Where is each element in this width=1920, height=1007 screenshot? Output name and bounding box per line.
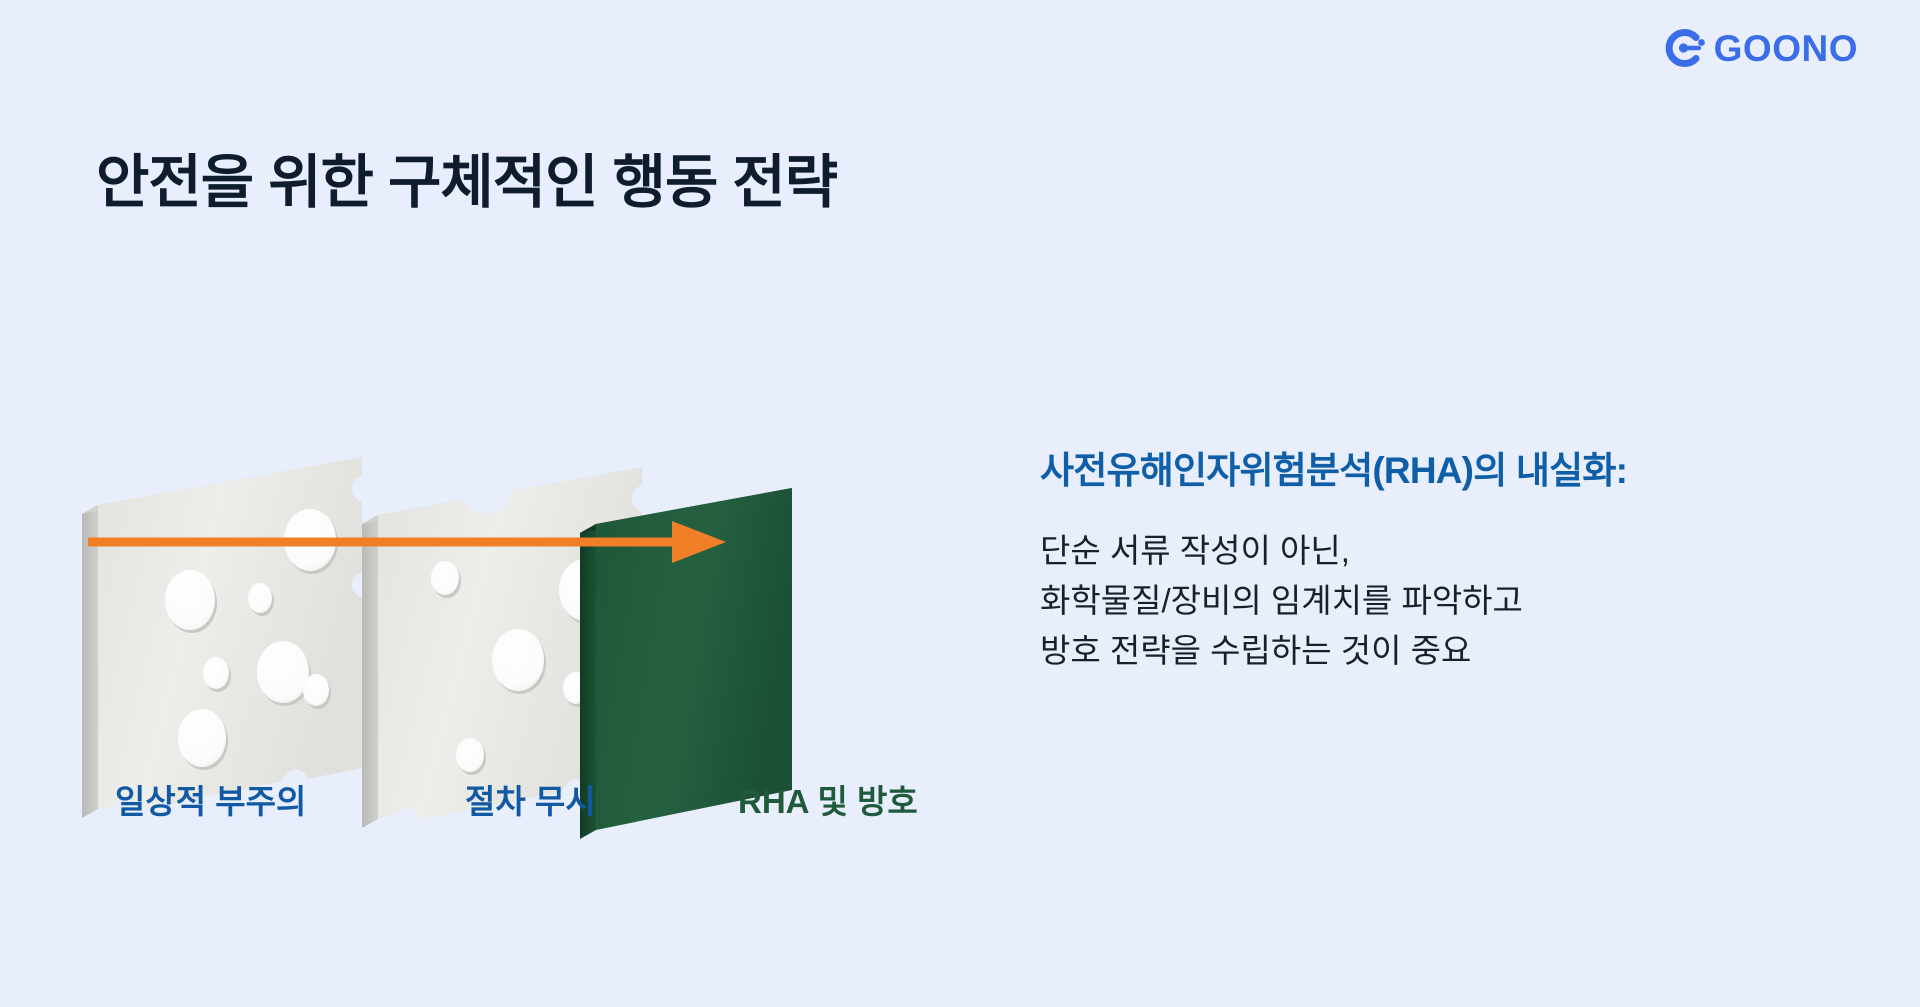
content-line-1: 단순 서류 작성이 아닌, <box>1040 526 1870 576</box>
content-block: 사전유해인자위험분석(RHA)의 내실화: 단순 서류 작성이 아닌, 화학물질… <box>1040 440 1870 676</box>
goono-circuit-mark <box>1662 28 1708 68</box>
slide-root: GOONO 안전을 위한 구체적인 행동 전략 <box>0 0 1920 1007</box>
content-line-3: 방호 전략을 수립하는 것이 중요 <box>1040 626 1870 676</box>
goono-logo: GOONO <box>1662 28 1858 68</box>
page-title: 안전을 위한 구체적인 행동 전략 <box>96 135 837 219</box>
logo-wordmark: GOONO <box>1714 30 1858 67</box>
layer-label-1: 일상적 부주의 <box>115 775 306 823</box>
layer-label-2: 절차 무시 <box>465 775 596 823</box>
cheese-slab-1 <box>82 457 362 818</box>
content-heading: 사전유해인자위험분석(RHA)의 내실화: <box>1040 440 1870 494</box>
layer-label-3: RHA 및 방호 <box>738 775 918 823</box>
content-line-2: 화학물질/장비의 임계치를 파악하고 <box>1040 576 1870 626</box>
layer-labels: 일상적 부주의 절차 무시 RHA 및 방호 <box>40 775 1030 835</box>
